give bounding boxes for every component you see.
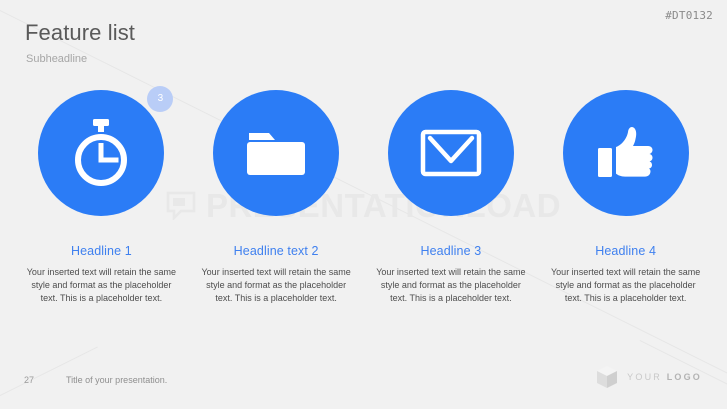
feature-headline-4: Headline 4: [595, 244, 656, 258]
feature-headline-3: Headline 3: [420, 244, 481, 258]
feature-column-1[interactable]: 3 Headline 1 Your inserted text will ret…: [14, 90, 189, 306]
feature-body-3: Your inserted text will retain the same …: [375, 266, 527, 306]
thumbs-up-icon: [596, 125, 656, 181]
icon-circle-4[interactable]: [563, 90, 689, 216]
stopwatch-icon: [70, 119, 132, 187]
feature-headline-2: Headline text 2: [234, 244, 319, 258]
decorative-diagonal-line-bottom-left: [0, 346, 98, 400]
folder-icon: [245, 127, 307, 179]
badge-count-1[interactable]: 3: [147, 86, 173, 112]
icon-circle-wrap-1: 3: [38, 90, 164, 216]
logo-text-light: YOUR: [627, 372, 667, 382]
feature-columns: 3 Headline 1 Your inserted text will ret…: [14, 90, 713, 306]
icon-circle-wrap-4: [563, 90, 689, 216]
feature-column-4[interactable]: Headline 4 Your inserted text will retai…: [538, 90, 713, 306]
icon-circle-2[interactable]: [213, 90, 339, 216]
icon-circle-3[interactable]: [388, 90, 514, 216]
icon-circle-wrap-3: [388, 90, 514, 216]
logo-text: YOUR LOGO: [627, 372, 702, 382]
feature-column-3[interactable]: Headline 3 Your inserted text will retai…: [364, 90, 539, 306]
feature-headline-1: Headline 1: [71, 244, 132, 258]
feature-body-2: Your inserted text will retain the same …: [200, 266, 352, 306]
logo-text-bold: LOGO: [667, 372, 702, 382]
feature-column-2[interactable]: Headline text 2 Your inserted text will …: [189, 90, 364, 306]
logo-placeholder[interactable]: YOUR LOGO: [596, 365, 702, 389]
slide-canvas: PRESENTATIONLOAD #DT0132 Feature list Su…: [0, 0, 727, 409]
page-subtitle: Subheadline: [26, 53, 87, 65]
icon-circle-1[interactable]: [38, 90, 164, 216]
envelope-icon: [420, 129, 482, 177]
footer-title: Title of your presentation.: [66, 375, 167, 385]
icon-circle-wrap-2: [213, 90, 339, 216]
template-code: #DT0132: [665, 9, 713, 22]
feature-body-1: Your inserted text will retain the same …: [25, 266, 177, 306]
feature-body-4: Your inserted text will retain the same …: [550, 266, 702, 306]
page-number: 27: [24, 375, 34, 385]
cube-logo-icon: [596, 365, 618, 389]
page-title: Feature list: [25, 20, 135, 46]
